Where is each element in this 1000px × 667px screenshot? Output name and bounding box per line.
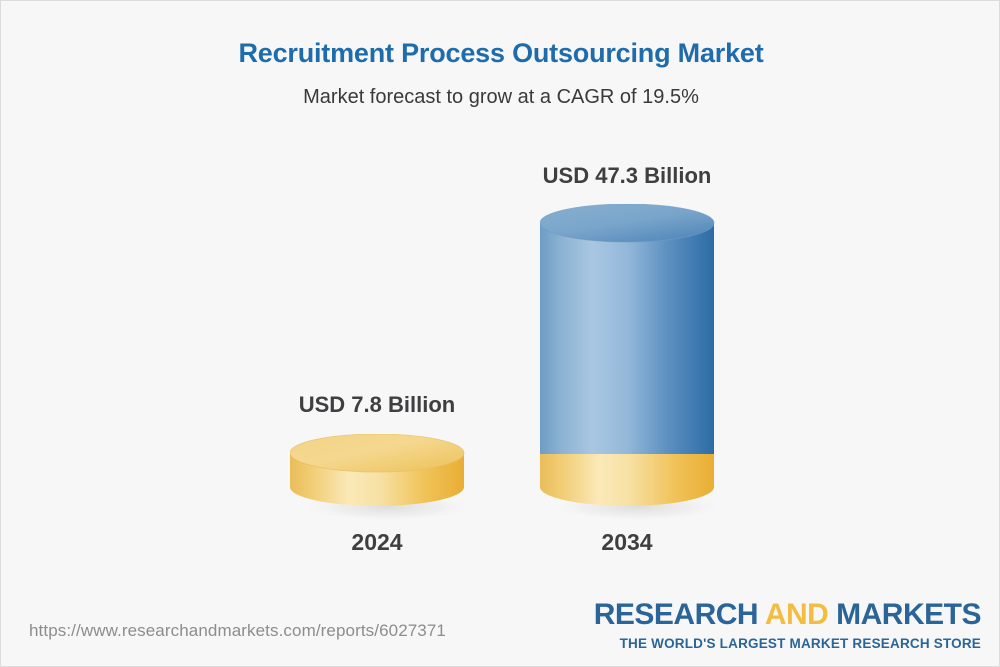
chart-footer: https://www.researchandmarkets.com/repor… <box>1 580 1000 666</box>
brand-logo: RESEARCH AND MARKETS THE WORLD'S LARGEST… <box>594 600 981 651</box>
brand-name-part1: RESEARCH <box>594 598 765 631</box>
bar-value-label-2034: USD 47.3 Billion <box>497 163 757 189</box>
brand-name-and: AND <box>765 598 836 631</box>
cylinder-2034-svg <box>540 204 726 524</box>
chart-subtitle: Market forecast to grow at a CAGR of 19.… <box>1 69 1000 109</box>
chart-plot-area: USD 7.8 Billion <box>1 141 1000 581</box>
brand-tagline: THE WORLD'S LARGEST MARKET RESEARCH STOR… <box>594 630 981 651</box>
chart-title: Recruitment Process Outsourcing Market <box>1 37 1000 69</box>
infographic-chart: Recruitment Process Outsourcing Market M… <box>0 0 1000 667</box>
cylinder-2024 <box>290 434 476 524</box>
bar-value-label-2024: USD 7.8 Billion <box>247 392 507 418</box>
bar-year-label-2024: 2024 <box>290 529 464 556</box>
cylinder-2024-svg <box>290 434 476 524</box>
source-url[interactable]: https://www.researchandmarkets.com/repor… <box>29 621 446 641</box>
brand-name-part2: MARKETS <box>836 598 981 631</box>
bar-year-label-2034: 2034 <box>540 529 714 556</box>
chart-header: Recruitment Process Outsourcing Market M… <box>1 1 1000 109</box>
brand-name: RESEARCH AND MARKETS <box>594 600 981 630</box>
cylinder-2034 <box>540 204 726 524</box>
